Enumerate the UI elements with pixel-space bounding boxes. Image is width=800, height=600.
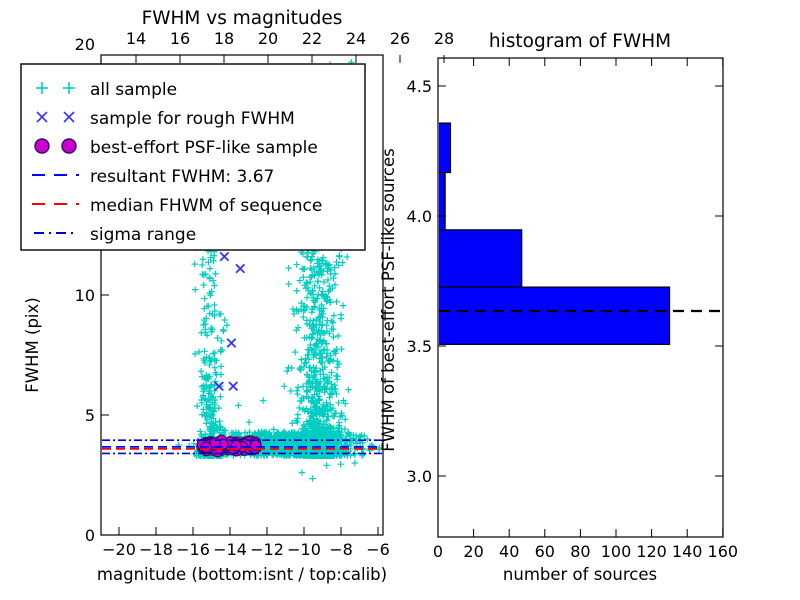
hist-x-tick-20: 20 [463,542,483,561]
scatter-xlabel: magnitude (bottom:isnt / top:calib) [97,565,387,584]
hist-x-tick-80: 80 [570,542,590,561]
y-tick-10: 10 [75,286,95,305]
hist-x-tick-140: 140 [672,542,703,561]
hist-bar [438,173,445,230]
hist-x-ticklabels: 0 20 40 60 80 100 120 140 160 [433,542,738,561]
hist-bar [438,230,522,287]
hist-x-tick-60: 60 [535,542,555,561]
x-tick-m18: −18 [139,540,173,559]
top-tick-28: 28 [434,29,454,48]
scatter-ylabel: FWHM (pix) [23,297,42,392]
hist-x-tick-120: 120 [636,542,667,561]
hist-x-tick-0: 0 [433,542,443,561]
y-tick-20: 20 [75,35,95,54]
hist-y-tick-3-0: 3.0 [407,467,432,486]
scatter-bottom-ticklabels: −20 −18 −16 −14 −12 −10 −8 −6 [102,540,390,559]
scatter-title: FWHM vs magnitudes [142,8,343,29]
legend-label-psf-like: best-effort PSF-like sample [90,138,318,158]
x-tick-m20: −20 [102,540,136,559]
figure-canvas: FWHM vs magnitudes 14 16 18 20 22 24 26 … [0,0,800,600]
top-tick-22: 22 [302,29,322,48]
x-tick-m12: −12 [250,540,284,559]
hist-y-tick-4-5: 4.5 [407,77,432,96]
top-tick-26: 26 [390,29,410,48]
hist-xlabel: number of sources [503,565,657,584]
legend-label-sigma-range: sigma range [90,225,196,245]
y-tick-5: 5 [85,406,95,425]
legend-label-median-fwhm: median FHWM of sequence [90,196,322,216]
hist-y-tick-4-0: 4.0 [407,207,432,226]
hist-x-tick-40: 40 [499,542,519,561]
top-tick-14: 14 [126,29,146,48]
x-tick-m8: −8 [329,540,353,559]
hist-title: histogram of FWHM [489,31,671,52]
legend-label-resultant-fwhm: resultant FWHM: 3.67 [90,167,274,187]
x-tick-m10: −10 [287,540,321,559]
hist-bar [438,123,450,172]
figure-svg: FWHM vs magnitudes 14 16 18 20 22 24 26 … [0,0,800,600]
legend-label-all-sample: all sample [90,80,177,100]
top-tick-24: 24 [346,29,366,48]
legend-label-rough-fwhm: sample for rough FWHM [90,109,295,129]
x-tick-m14: −14 [213,540,247,559]
hist-bar [438,287,670,344]
hist-ylabel: FWHM of best-effort PSF-like sources [379,148,398,451]
x-tick-m6: −6 [366,540,390,559]
top-tick-20: 20 [258,29,278,48]
top-tick-18: 18 [214,29,234,48]
hist-x-tick-100: 100 [601,542,632,561]
hist-x-tick-160: 160 [708,542,739,561]
x-tick-m16: −16 [176,540,210,559]
hist-y-tick-3-5: 3.5 [407,337,432,356]
top-tick-16: 16 [170,29,190,48]
scatter-legend[interactable]: all sample sample for rough FWHM best-ef… [21,64,365,250]
y-tick-0: 0 [85,526,95,545]
